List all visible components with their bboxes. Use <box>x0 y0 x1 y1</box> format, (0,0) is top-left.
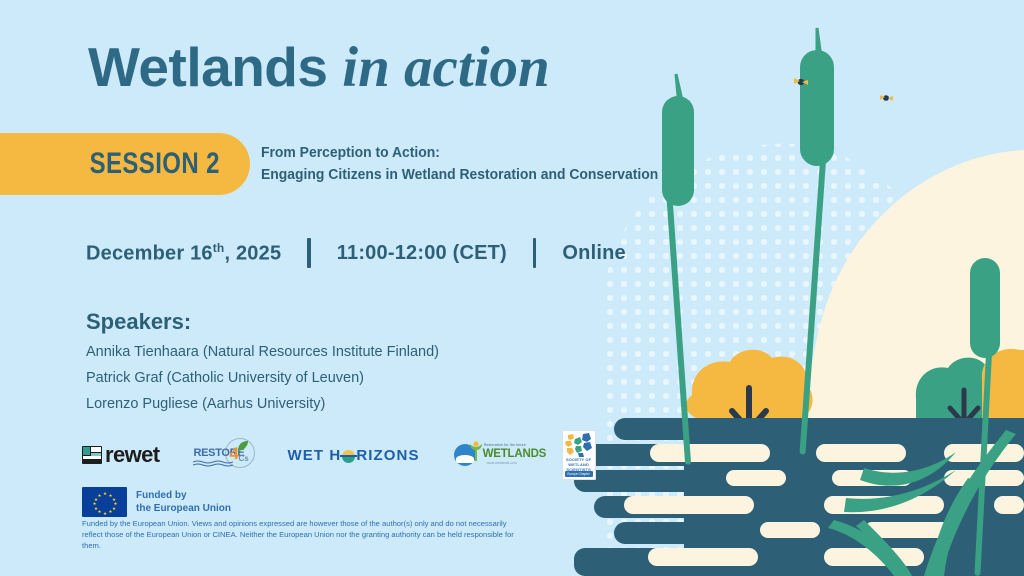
restore4cs-suffix: Cs <box>238 454 248 463</box>
session-subtitle-line2: Engaging Citizens in Wetland Restoration… <box>261 164 658 186</box>
speaker-item: Lorenzo Pugliese (Aarhus University) <box>86 392 439 418</box>
logo-wet-horizons: WET H RIZONS <box>287 447 419 464</box>
eu-funding-line2: the European Union <box>136 502 231 516</box>
logo-restore4cs: RESTORE 4 Cs <box>193 440 255 470</box>
sws-name: SOCIETY OF WETLAND SCIENTISTS <box>565 457 593 472</box>
event-date: December 16th, 2025 <box>86 241 281 266</box>
speakers-heading: Speakers: <box>86 309 191 335</box>
cattail-tall-center <box>799 28 834 455</box>
down-arrow-right <box>950 390 978 424</box>
title-bold: Wetlands <box>88 36 327 98</box>
bee-lower <box>880 95 893 101</box>
wetland-illustration <box>564 0 1024 576</box>
wet-horizons-part2: RIZONS <box>356 447 419 464</box>
event-date-year: , 2025 <box>224 242 281 264</box>
eu-funding-line1: Funded by <box>136 489 231 503</box>
wetlands-wordmark: WETLANDS <box>483 448 547 460</box>
down-arrow-left <box>732 388 766 430</box>
session-badge-label: SESSION 2 <box>90 147 220 181</box>
logo-society-wetland-scientists: SOCIETY OF WETLAND SCIENTISTS Europe Cha… <box>562 430 596 480</box>
meta-divider-1 <box>307 238 311 268</box>
bush-yellow-right <box>982 349 1024 418</box>
event-meta-row: December 16th, 2025 11:00-12:00 (CET) On… <box>86 238 626 268</box>
bee-upper <box>794 78 808 85</box>
event-date-prefix: December 16 <box>86 242 213 264</box>
page-title: Wetlands in action <box>88 38 550 98</box>
eu-flag-icon: ★ ★ ★ ★ ★ ★ ★ ★ ★ ★ ★ ★ <box>82 487 127 517</box>
sws-chapter: Europe Chapter <box>565 471 593 477</box>
event-mode: Online <box>562 242 625 265</box>
rewet-wordmark: rewet <box>105 442 159 468</box>
wetlands-url: www.wetlands.com <box>487 461 517 465</box>
logo-wetlands: Restoration for the future WETLANDS www.… <box>454 441 524 469</box>
speaker-item: Annika Tienhaara (Natural Resources Inst… <box>86 340 439 366</box>
session-subtitle: From Perception to Action: Engaging Citi… <box>261 142 658 187</box>
funding-disclaimer: Funded by the European Union. Views and … <box>82 518 522 552</box>
leaf-icon <box>237 440 249 452</box>
session-subtitle-line1: From Perception to Action: <box>261 142 658 164</box>
cattail-left <box>662 74 694 465</box>
speakers-list: Annika Tienhaara (Natural Resources Inst… <box>86 340 439 417</box>
water-ripples <box>624 444 1024 566</box>
person-icon <box>469 441 483 461</box>
eu-funding-text: Funded by the European Union <box>136 489 231 516</box>
meta-divider-2 <box>533 238 537 268</box>
event-date-ordinal: th <box>213 241 225 255</box>
horizon-globe-icon <box>342 450 355 463</box>
rewet-mark-icon <box>82 446 102 464</box>
event-time: 11:00-12:00 (CET) <box>337 242 507 265</box>
dot-pattern <box>564 0 1024 576</box>
wave-icon <box>193 460 233 467</box>
eu-funding-block: ★ ★ ★ ★ ★ ★ ★ ★ ★ ★ ★ ★ Funded by the Eu… <box>82 487 231 517</box>
cattail-right <box>970 258 1000 576</box>
session-badge: SESSION 2 <box>0 133 250 195</box>
cream-landform <box>800 150 1024 576</box>
speaker-item: Patrick Graf (Catholic University of Leu… <box>86 366 439 392</box>
title-italic: in action <box>342 36 549 99</box>
reed-blades <box>828 430 1016 576</box>
logo-rewet: rewet <box>82 442 159 468</box>
wet-horizons-part1: WET H <box>287 447 341 464</box>
europe-map-icon <box>562 431 596 459</box>
water-body <box>564 418 1024 576</box>
bush-green-right <box>916 358 1016 418</box>
wetlands-tagline: Restoration for the future <box>484 443 526 447</box>
partner-logo-row: rewet RESTORE 4 Cs WET H RIZONS Restorat… <box>82 430 596 480</box>
bush-yellow-left <box>686 350 813 418</box>
